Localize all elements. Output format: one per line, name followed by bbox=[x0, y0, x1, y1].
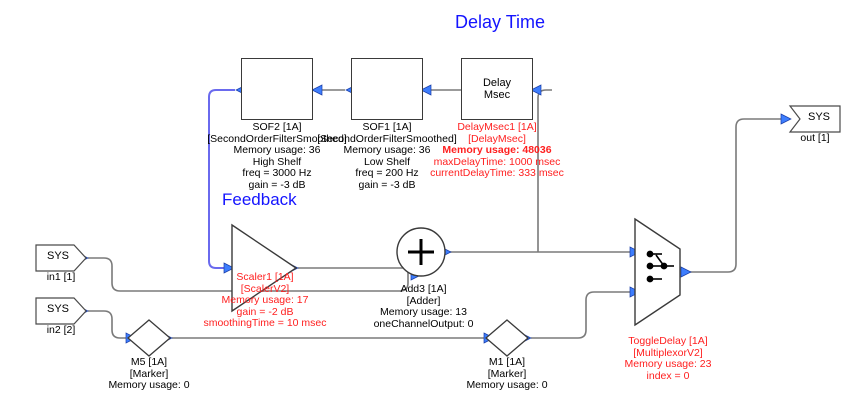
caption-m5: M5 [1A] [Marker] Memory usage: 0 bbox=[89, 357, 209, 392]
sys-in1-label: SYS bbox=[47, 250, 69, 262]
caption-add3: Add3 [1A] [Adder] Memory usage: 13 oneCh… bbox=[361, 284, 486, 330]
sys-in1-text: SYS bbox=[36, 250, 80, 262]
delay-box-line1: Delay bbox=[483, 77, 511, 89]
caption-scaler1-line-2: Memory usage: 17 bbox=[185, 295, 345, 307]
port-m5-in bbox=[126, 333, 136, 343]
caption-in1-line-0: in1 [1] bbox=[21, 272, 101, 284]
sys-out-label: SYS bbox=[808, 111, 830, 123]
caption-m1-line-2: Memory usage: 0 bbox=[447, 380, 567, 392]
caption-add3-line-3: oneChannelOutput: 0 bbox=[361, 319, 486, 331]
caption-delaymsec1-line-2: Memory usage: 48036 bbox=[417, 145, 577, 157]
port-mux-in2 bbox=[630, 287, 640, 297]
caption-sof1-line-5: gain = -3 dB bbox=[307, 180, 467, 192]
block-sof1[interactable] bbox=[351, 58, 423, 120]
m1-diamond bbox=[486, 320, 528, 356]
wire-scaler-to-add3 bbox=[298, 262, 424, 270]
page-title: Delay Time bbox=[455, 12, 545, 33]
port-m5-out bbox=[162, 333, 172, 343]
caption-in1: in1 [1] bbox=[21, 272, 101, 284]
sys-out-text: SYS bbox=[800, 111, 838, 123]
caption-toggledelay-line-0: ToggleDelay [1A] bbox=[598, 336, 738, 348]
caption-m5-line-2: Memory usage: 0 bbox=[89, 380, 209, 392]
caption-out1-line-0: out [1] bbox=[785, 133, 845, 145]
caption-toggledelay: ToggleDelay [1A] [MultiplexorV2] Memory … bbox=[598, 336, 738, 382]
caption-toggledelay-line-2: Memory usage: 23 bbox=[598, 359, 738, 371]
feedback-annotation: Feedback bbox=[222, 190, 297, 210]
block-sof2[interactable] bbox=[241, 58, 313, 120]
caption-out1: out [1] bbox=[785, 133, 845, 145]
wire-mux-to-out bbox=[690, 119, 781, 272]
caption-add3-line-0: Add3 [1A] bbox=[361, 284, 486, 296]
m5-diamond bbox=[128, 320, 170, 356]
port-sof2-in bbox=[312, 85, 322, 95]
caption-delaymsec1-line-4: currentDelayTime: 333 msec bbox=[417, 168, 577, 180]
caption-delaymsec1: DelayMsec1 [1A] [DelayMsec] Memory usage… bbox=[417, 122, 577, 180]
caption-in2-line-0: in2 [2] bbox=[21, 325, 101, 337]
port-add3-in1 bbox=[411, 253, 421, 263]
port-add3-in2 bbox=[411, 270, 421, 280]
caption-m5-line-0: M5 [1A] bbox=[89, 357, 209, 369]
caption-toggledelay-line-3: index = 0 bbox=[598, 371, 738, 383]
port-out1-in bbox=[781, 114, 791, 124]
port-mux-in1 bbox=[630, 247, 640, 257]
caption-delaymsec1-line-0: DelayMsec1 [1A] bbox=[417, 122, 577, 134]
wire-m1-to-mux bbox=[531, 292, 634, 338]
mux-switch-glyph bbox=[647, 251, 674, 281]
port-add3-out bbox=[441, 247, 451, 257]
caption-add3-line-2: Memory usage: 13 bbox=[361, 307, 486, 319]
sys-in2-text: SYS bbox=[36, 303, 80, 315]
port-m1-in bbox=[484, 333, 494, 343]
port-mux-out bbox=[681, 267, 691, 277]
delay-box-line2: Msec bbox=[484, 89, 510, 101]
adder-plus-glyph bbox=[408, 239, 434, 265]
caption-m1: M1 [1A] [Marker] Memory usage: 0 bbox=[447, 357, 567, 392]
port-m1-out bbox=[521, 333, 531, 343]
caption-in2: in2 [2] bbox=[21, 325, 101, 337]
caption-scaler1-line-0: Scaler1 [1A] bbox=[185, 272, 345, 284]
adder-circle bbox=[397, 228, 445, 276]
caption-scaler1: Scaler1 [1A] [ScalerV2] Memory usage: 17… bbox=[185, 272, 345, 330]
block-delaymsec1[interactable]: Delay Msec bbox=[461, 58, 533, 120]
mux-trapezoid bbox=[635, 219, 680, 325]
caption-scaler1-line-4: smoothingTime = 10 msec bbox=[185, 318, 345, 330]
signal-flow-diagram: Delay Msec SYS SYS SYS Delay Time Feedba… bbox=[0, 0, 863, 411]
caption-m1-line-0: M1 [1A] bbox=[447, 357, 567, 369]
sys-in2-label: SYS bbox=[47, 303, 69, 315]
